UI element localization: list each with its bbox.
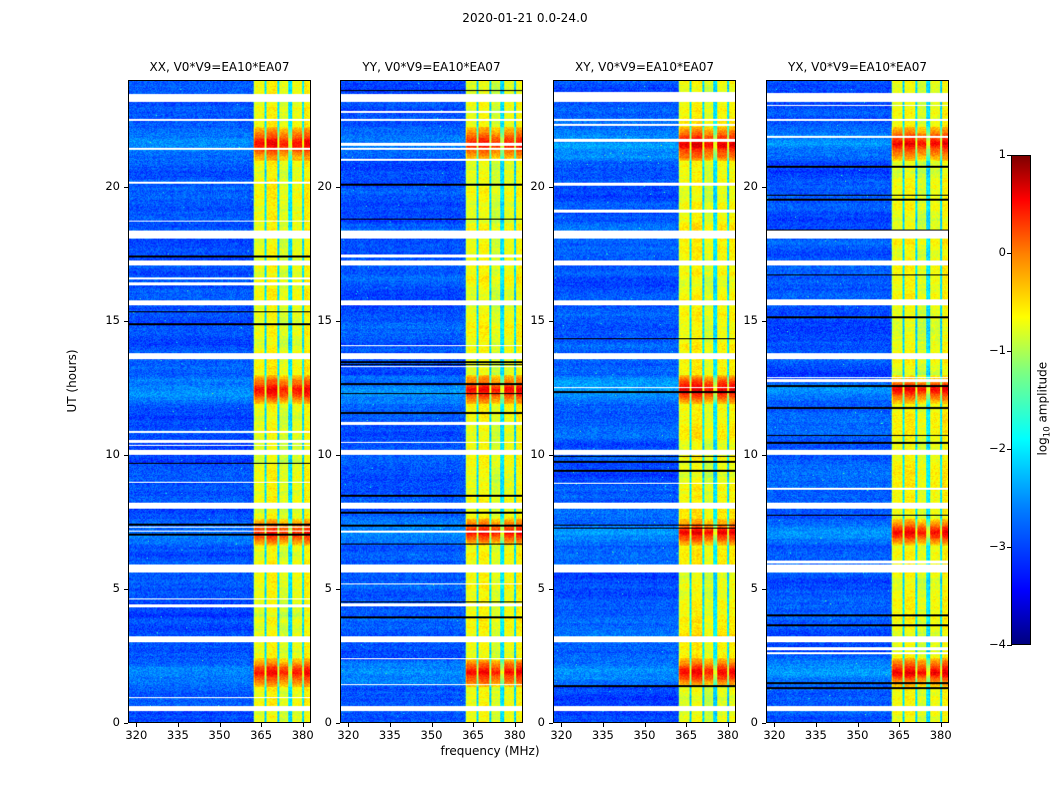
y-tick-mark [762, 321, 766, 322]
y-tick-mark [336, 455, 340, 456]
x-tick-label: 380 [495, 730, 535, 742]
x-tick-mark [645, 723, 646, 727]
y-tick-mark [124, 589, 128, 590]
panel-title-xx: XX, V0*V9=EA10*EA07 [128, 60, 311, 74]
y-tick-label: 20 [302, 181, 332, 193]
y-tick-label: 15 [90, 315, 120, 327]
y-tick-mark [124, 321, 128, 322]
y-tick-label: 0 [515, 717, 545, 729]
y-tick-mark [124, 723, 128, 724]
y-tick-label: 0 [90, 717, 120, 729]
x-tick-label: 335 [583, 730, 623, 742]
x-tick-label: 350 [625, 730, 665, 742]
spectrogram-panel-yx[interactable] [766, 80, 949, 723]
x-tick-label: 335 [796, 730, 836, 742]
y-tick-label: 5 [302, 583, 332, 595]
y-tick-mark [762, 455, 766, 456]
colorbar-label-tail: amplitude [1035, 362, 1049, 426]
x-tick-mark [178, 723, 179, 727]
x-tick-mark [603, 723, 604, 727]
y-tick-mark [336, 187, 340, 188]
y-tick-mark [762, 723, 766, 724]
y-tick-label: 10 [728, 449, 758, 461]
y-tick-mark [549, 321, 553, 322]
y-tick-mark [762, 187, 766, 188]
y-tick-label: 20 [515, 181, 545, 193]
spectrogram-panel-xy[interactable] [553, 80, 736, 723]
x-tick-mark [774, 723, 775, 727]
colorbar-tick-label: −3 [980, 541, 1006, 553]
panel-title-yy: YY, V0*V9=EA10*EA07 [340, 60, 523, 74]
x-tick-mark [432, 723, 433, 727]
x-tick-label: 320 [328, 730, 368, 742]
x-tick-label: 350 [838, 730, 878, 742]
x-tick-label: 335 [158, 730, 198, 742]
colorbar-tick-label: −1 [980, 345, 1006, 357]
y-tick-label: 0 [728, 717, 758, 729]
x-tick-label: 365 [241, 730, 281, 742]
spectrogram-panel-yy[interactable] [340, 80, 523, 723]
y-tick-mark [549, 187, 553, 188]
y-tick-label: 5 [728, 583, 758, 595]
x-tick-mark [261, 723, 262, 727]
colorbar-tick-label: 0 [980, 247, 1006, 259]
x-tick-label: 320 [541, 730, 581, 742]
x-tick-mark [348, 723, 349, 727]
y-tick-label: 0 [302, 717, 332, 729]
x-tick-mark [390, 723, 391, 727]
spectrogram-image-yx [767, 81, 948, 722]
x-tick-mark [686, 723, 687, 727]
colorbar-label: log10 amplitude [1035, 354, 1050, 464]
colorbar-tick-mark [1007, 155, 1012, 156]
panel-title-xy: XY, V0*V9=EA10*EA07 [553, 60, 736, 74]
x-tick-label: 350 [412, 730, 452, 742]
x-tick-label: 380 [921, 730, 961, 742]
x-axis-label: frequency (MHz) [390, 744, 590, 758]
x-tick-mark [561, 723, 562, 727]
y-tick-label: 5 [515, 583, 545, 595]
colorbar-tick-mark [1007, 351, 1012, 352]
colorbar-tick-label: 1 [980, 149, 1006, 161]
y-tick-mark [549, 723, 553, 724]
y-tick-mark [549, 455, 553, 456]
x-tick-mark [941, 723, 942, 727]
y-tick-label: 15 [728, 315, 758, 327]
colorbar-tick-label: −2 [980, 443, 1006, 455]
colorbar-tick-mark [1007, 645, 1012, 646]
y-tick-label: 20 [90, 181, 120, 193]
colorbar[interactable] [1011, 155, 1031, 645]
x-tick-label: 380 [708, 730, 748, 742]
x-tick-label: 365 [453, 730, 493, 742]
x-tick-label: 380 [283, 730, 323, 742]
x-tick-mark [899, 723, 900, 727]
colorbar-label-main: log [1035, 437, 1049, 455]
x-tick-label: 365 [666, 730, 706, 742]
y-tick-label: 15 [515, 315, 545, 327]
x-tick-label: 335 [370, 730, 410, 742]
spectrogram-panel-xx[interactable] [128, 80, 311, 723]
colorbar-label-subscript: 10 [1043, 426, 1050, 437]
y-tick-mark [549, 589, 553, 590]
y-tick-mark [124, 187, 128, 188]
figure-suptitle: 2020-01-21 0.0-24.0 [0, 11, 1050, 25]
x-tick-mark [220, 723, 221, 727]
x-tick-label: 320 [116, 730, 156, 742]
y-tick-label: 15 [302, 315, 332, 327]
x-tick-mark [473, 723, 474, 727]
x-tick-label: 320 [754, 730, 794, 742]
y-tick-mark [762, 589, 766, 590]
colorbar-tick-mark [1007, 253, 1012, 254]
y-tick-mark [124, 455, 128, 456]
y-tick-mark [336, 589, 340, 590]
figure-canvas: 2020-01-21 0.0-24.0 XX, V0*V9=EA10*EA07 … [0, 0, 1050, 800]
y-tick-label: 20 [728, 181, 758, 193]
y-tick-mark [336, 723, 340, 724]
colorbar-tick-label: −4 [980, 639, 1006, 651]
y-tick-label: 10 [302, 449, 332, 461]
x-tick-mark [816, 723, 817, 727]
spectrogram-image-yy [341, 81, 522, 722]
y-tick-label: 10 [515, 449, 545, 461]
y-tick-mark [336, 321, 340, 322]
colorbar-tick-mark [1007, 547, 1012, 548]
x-tick-label: 350 [200, 730, 240, 742]
y-axis-label: UT (hours) [65, 336, 79, 426]
spectrogram-image-xx [129, 81, 310, 722]
x-tick-mark [858, 723, 859, 727]
y-tick-label: 5 [90, 583, 120, 595]
panel-title-yx: YX, V0*V9=EA10*EA07 [766, 60, 949, 74]
x-tick-mark [136, 723, 137, 727]
spectrogram-image-xy [554, 81, 735, 722]
y-tick-label: 10 [90, 449, 120, 461]
x-tick-label: 365 [879, 730, 919, 742]
colorbar-tick-mark [1007, 449, 1012, 450]
